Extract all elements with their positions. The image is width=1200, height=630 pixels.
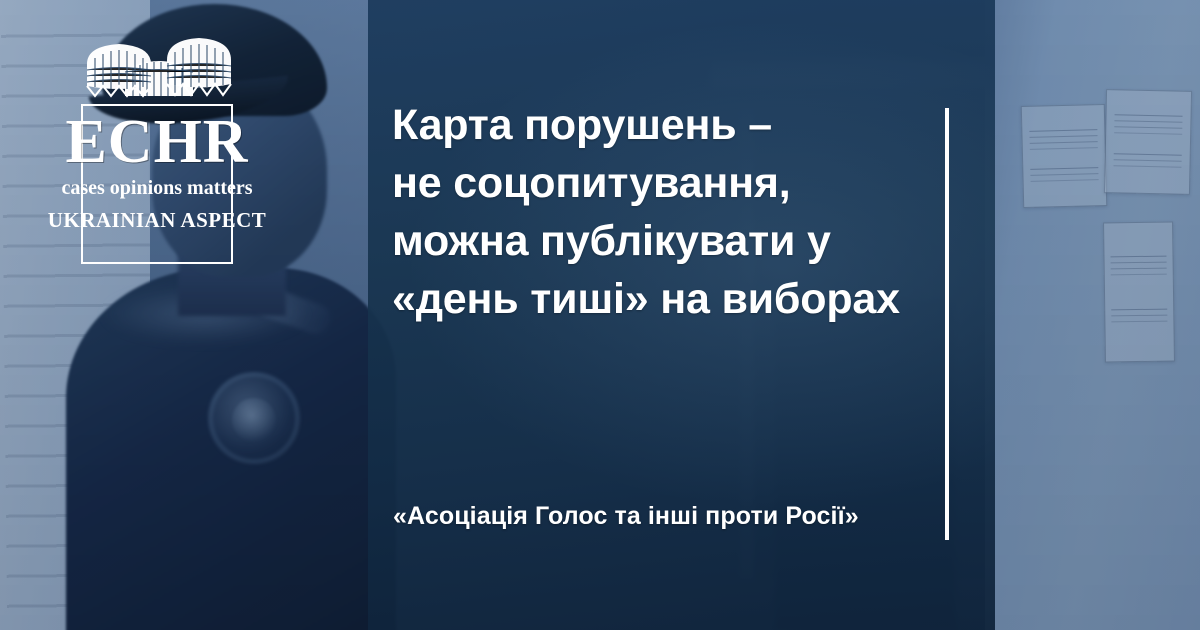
echr-logo-subtitle: UKRAINIAN ASPECT	[48, 205, 267, 237]
poster-canvas: ECHR cases opinions matters UKRAINIAN AS…	[0, 0, 1200, 630]
echr-logo[interactable]: ECHR cases opinions matters UKRAINIAN AS…	[75, 34, 241, 266]
vertical-divider-rule	[945, 108, 949, 540]
echr-logo-box: ECHR cases opinions matters UKRAINIAN AS…	[81, 104, 233, 264]
case-name-subtitle: «Асоціація Голос та інші проти Росії»	[393, 500, 933, 532]
headline-text: Карта порушень – не соцопитування, можна…	[392, 96, 932, 328]
echr-building-icon	[79, 34, 239, 106]
echr-logo-tagline: cases opinions matters	[61, 173, 252, 203]
echr-logo-title: ECHR	[65, 112, 248, 173]
